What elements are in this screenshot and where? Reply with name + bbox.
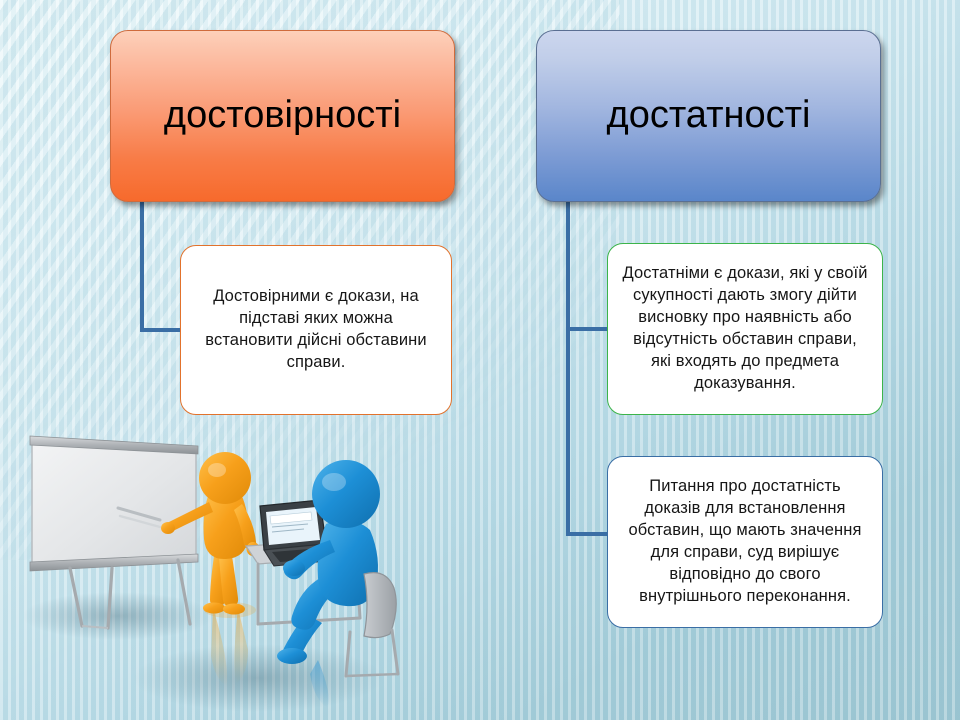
detail-text-dostatnist-definition: Достатніми є докази, які у своїй сукупно… (622, 263, 868, 395)
detail-text-dostovirnist: Достовірними є докази, на підставі яких … (195, 286, 437, 374)
laptop (260, 500, 338, 566)
connector-left-horizontal (140, 328, 184, 332)
laptop-user-figure-blue (277, 460, 380, 708)
ground-shadow-board (22, 592, 214, 640)
ground-shadow-figures (133, 644, 383, 712)
connector-right-vertical (566, 200, 570, 536)
detail-box-dostatnist-definition[interactable]: Достатніми є докази, які у своїй сукупно… (607, 243, 883, 415)
slide-canvas: достовірності достатності Достовірними є… (0, 0, 960, 720)
presentation-illustration (8, 428, 400, 716)
connector-right-horizontal-top (566, 327, 611, 331)
detail-box-dostovirnist[interactable]: Достовірними є докази, на підставі яких … (180, 245, 452, 415)
detail-box-dostatnist-court[interactable]: Питання про достатність доказів для вста… (607, 456, 883, 628)
chair (346, 573, 398, 676)
connector-right-horizontal-bottom (566, 532, 611, 536)
desk (246, 540, 360, 624)
whiteboard (30, 436, 198, 628)
detail-text-dostatnist-court: Питання про достатність доказів для вста… (622, 476, 868, 608)
connector-left-vertical (140, 200, 144, 332)
header-label-dostatnosti: достатності (607, 96, 811, 136)
header-box-dostovirnosti[interactable]: достовірності (110, 30, 455, 202)
header-label-dostovirnosti: достовірності (164, 96, 401, 136)
presenter-figure-orange (118, 452, 260, 686)
header-box-dostatnosti[interactable]: достатності (536, 30, 881, 202)
